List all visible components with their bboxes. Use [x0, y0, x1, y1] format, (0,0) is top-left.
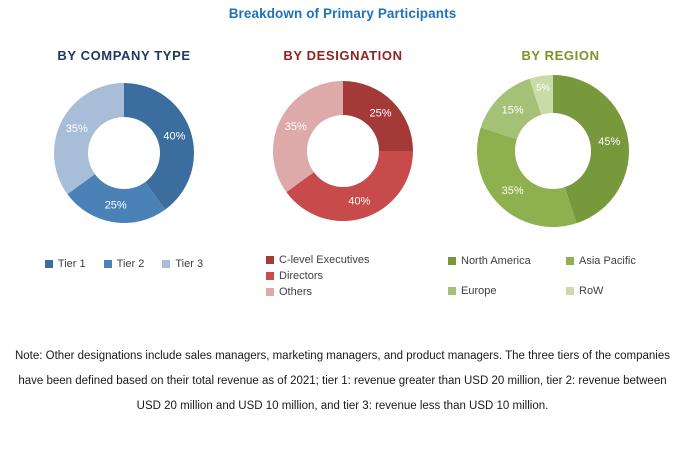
legend-swatch-icon — [162, 260, 170, 268]
legend-item-region[interactable]: North America — [448, 254, 566, 268]
legend-company-type: Tier 1Tier 2Tier 3 — [8, 256, 240, 272]
slice-value-label: 15% — [502, 105, 524, 117]
legend-swatch-icon — [266, 256, 274, 264]
legend-item-region[interactable]: Europe — [448, 284, 566, 298]
legend-row: Tier 1Tier 2Tier 3 — [8, 256, 240, 272]
panel-region-heading: BY REGION — [438, 48, 683, 63]
legend-item-region[interactable]: Asia Pacific — [566, 254, 676, 268]
donut-chart-designation: 25%40%35% — [248, 63, 438, 243]
panel-company-type: BY COMPANY TYPE 40%25%35% Tier 1Tier 2Ti… — [8, 48, 240, 333]
legend-item-designation[interactable]: Directors — [266, 269, 438, 283]
legend-item-company[interactable]: Tier 3 — [162, 257, 203, 271]
donut-slice — [54, 83, 124, 194]
legend-item-label: Tier 3 — [175, 257, 203, 271]
page-title: Breakdown of Primary Participants — [0, 6, 685, 21]
panel-company-type-heading: BY COMPANY TYPE — [8, 48, 240, 63]
slice-value-label: 25% — [105, 199, 127, 211]
slice-value-label: 35% — [502, 185, 524, 197]
panel-designation: BY DESIGNATION 25%40%35% C-level Executi… — [248, 48, 438, 333]
legend-designation: C-level ExecutivesDirectorsOthers — [248, 253, 438, 299]
legend-item-label: Others — [279, 285, 312, 299]
legend-swatch-icon — [566, 287, 574, 295]
legend-item-label: Tier 2 — [117, 257, 145, 271]
legend-item-label: RoW — [579, 284, 603, 298]
footnote: Note: Other designations include sales m… — [12, 344, 673, 419]
legend-region: North AmericaAsia PacificEuropeRoW — [438, 253, 683, 299]
donut-chart-company-type: 40%25%35% — [8, 63, 240, 248]
slice-value-label: 5% — [536, 82, 550, 93]
legend-swatch-icon — [104, 260, 112, 268]
legend-item-label: Asia Pacific — [579, 254, 636, 268]
legend-swatch-icon — [45, 260, 53, 268]
slice-value-label: 35% — [66, 123, 88, 135]
legend-swatch-icon — [266, 288, 274, 296]
legend-item-label: Tier 1 — [58, 257, 86, 271]
slice-value-label: 45% — [598, 136, 620, 148]
legend-item-designation[interactable]: C-level Executives — [266, 253, 438, 267]
slice-value-label: 40% — [348, 195, 370, 207]
legend-item-label: North America — [461, 254, 531, 268]
donut-slice — [477, 128, 576, 227]
legend-item-company[interactable]: Tier 1 — [45, 257, 86, 271]
panel-designation-heading: BY DESIGNATION — [248, 48, 438, 63]
donut-chart-region: 45%35%15%5% — [438, 63, 683, 243]
legend-swatch-icon — [266, 272, 274, 280]
donut-slice — [273, 81, 343, 192]
legend-swatch-icon — [448, 257, 456, 265]
legend-item-label: C-level Executives — [279, 253, 369, 267]
legend-swatch-icon — [448, 287, 456, 295]
slice-value-label: 40% — [163, 131, 185, 143]
legend-item-region[interactable]: RoW — [566, 284, 676, 298]
chart-page: Breakdown of Primary Participants BY COM… — [0, 0, 685, 452]
legend-item-label: Europe — [461, 284, 496, 298]
legend-item-label: Directors — [279, 269, 323, 283]
panel-region: BY REGION 45%35%15%5% North AmericaAsia … — [438, 48, 683, 333]
legend-item-designation[interactable]: Others — [266, 285, 438, 299]
legend-item-company[interactable]: Tier 2 — [104, 257, 145, 271]
slice-value-label: 35% — [285, 121, 307, 133]
slice-value-label: 25% — [369, 107, 391, 119]
legend-swatch-icon — [566, 257, 574, 265]
